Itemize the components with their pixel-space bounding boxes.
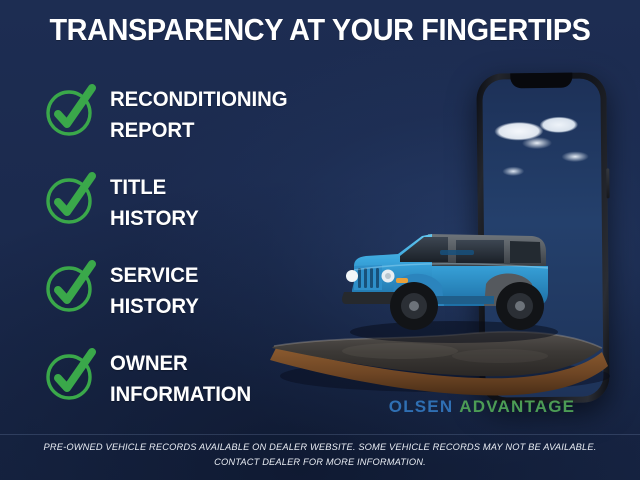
list-item: TITLE HISTORY [44,172,344,260]
brand-name-secondary: ADVANTAGE [459,397,575,416]
check-circle-icon [44,349,96,403]
phone-notch [510,73,572,89]
list-item: RECONDITIONING REPORT [44,84,344,172]
list-item-line2: REPORT [110,115,287,146]
check-circle-icon [44,261,96,315]
list-item-line1: TITLE [110,176,166,199]
disclaimer-line2: CONTACT DEALER FOR MORE INFORMATION. [24,455,616,470]
list-item-line2: HISTORY [110,291,199,322]
list-item-line1: OWNER [110,352,188,375]
disclaimer-text: PRE-OWNED VEHICLE RECORDS AVAILABLE ON D… [24,440,616,470]
list-item-line2: HISTORY [110,203,199,234]
check-circle-icon [44,85,96,139]
list-item-label: TITLE HISTORY [110,172,199,234]
brand-logo: OLSEN ADVANTAGE [352,397,612,417]
list-item-label: RECONDITIONING REPORT [110,84,287,146]
advertisement-banner: TRANSPARENCY AT YOUR FINGERTIPS [0,0,640,480]
page-title: TRANSPARENCY AT YOUR FINGERTIPS [22,10,617,50]
list-item-label: SERVICE HISTORY [110,260,199,322]
check-circle-icon [44,173,96,227]
brand-name-primary: OLSEN [389,397,454,416]
phone-side-button [606,168,609,198]
disclaimer-line1: PRE-OWNED VEHICLE RECORDS AVAILABLE ON D… [44,442,597,452]
list-item-line2: INFORMATION [110,379,251,410]
footer-divider [0,434,640,435]
list-item-line1: RECONDITIONING [110,88,287,111]
suv-vehicle-icon [336,210,566,345]
list-item-label: OWNER INFORMATION [110,348,251,410]
list-item-line1: SERVICE [110,264,198,287]
